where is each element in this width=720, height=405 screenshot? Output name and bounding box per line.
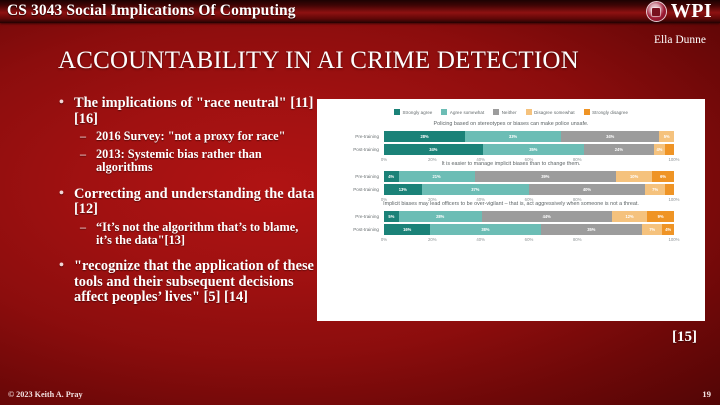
bar-segment-label: 39% (541, 174, 549, 179)
chart-row: Post-training13%37%40%7% (317, 184, 705, 195)
chart-panel: Strongly agreeAgree somewhatNeitherDisag… (317, 99, 705, 321)
legend-label: Strongly agree (402, 110, 432, 115)
subchart-title: Policing based on stereotypes or biases … (317, 121, 705, 128)
stacked-bar: 34%35%24%4% (384, 144, 674, 155)
bar-segment-label: 6% (660, 174, 666, 179)
chart-row: Pre-training4%21%39%10%6% (317, 171, 705, 182)
presenter-name: Ella Dunne (654, 34, 706, 46)
chart-row: Post-training16%38%35%7%4% (317, 224, 705, 235)
course-title: CS 3043 Social Implications Of Computing (7, 2, 296, 20)
bar-segment: 33% (465, 131, 561, 142)
legend-label: Strongly disagree (592, 110, 628, 115)
legend-swatch-icon (584, 109, 590, 115)
bar-segment (665, 184, 674, 195)
bar-segment-label: 24% (615, 147, 623, 152)
bar-segment-label: 40% (583, 187, 591, 192)
slide: CS 3043 Social Implications Of Computing… (0, 0, 720, 405)
bar-segment-label: 35% (587, 227, 595, 232)
legend-swatch-icon (394, 109, 400, 115)
chart-subpanels: Policing based on stereotypes or biases … (317, 121, 705, 237)
bar-segment-label: 28% (420, 134, 428, 139)
x-axis-tick-label: 20% (428, 237, 437, 242)
page-title: ACCOUNTABILITY IN AI CRIME DETECTION (58, 47, 579, 75)
bar-segment-label: 13% (399, 187, 407, 192)
x-axis-tick-label: 100% (668, 237, 679, 242)
bar-segment: 4% (662, 224, 674, 235)
legend-swatch-icon (526, 109, 532, 115)
subchart: Implicit biases may lead officers to be … (317, 201, 705, 237)
bar-segment-label: 28% (436, 214, 444, 219)
subchart-title: It is easier to manage implicit biases t… (317, 161, 705, 168)
legend-label: Agree somewhat (450, 110, 484, 115)
bar-segment: 7% (642, 224, 662, 235)
bar-segment: 5% (384, 211, 399, 222)
stacked-bar: 13%37%40%7% (384, 184, 674, 195)
chart-row-label: Post-training (317, 227, 384, 232)
subchart-rows: Pre-training4%21%39%10%6%Post-training13… (317, 171, 705, 195)
bar-segment: 38% (430, 224, 540, 235)
legend-item: Neither (493, 109, 516, 115)
bar-segment: 6% (652, 171, 674, 182)
bar-segment-label: 34% (606, 134, 614, 139)
chart-row: Pre-training5%28%44%12%9% (317, 211, 705, 222)
chart-row: Post-training34%35%24%4% (317, 144, 705, 155)
stacked-bar: 4%21%39%10%6% (384, 171, 674, 182)
image-citation: [15] (672, 329, 697, 346)
bar-segment: 35% (483, 144, 585, 155)
bar-segment-label: 10% (630, 174, 638, 179)
bar-segment: 40% (529, 184, 645, 195)
bar-segment: 16% (384, 224, 430, 235)
bar-segment-label: 7% (652, 187, 658, 192)
bar-segment-label: 12% (625, 214, 633, 219)
bar-segment-label: 37% (471, 187, 479, 192)
chart-row-label: Pre-training (317, 134, 384, 139)
bullet-level2: “It’s not the algorithm that’s to blame,… (58, 221, 316, 247)
stacked-bar: 16%38%35%7%4% (384, 224, 674, 235)
bar-segment-label: 35% (529, 147, 537, 152)
x-axis-tick-label: 40% (476, 237, 485, 242)
bullet-level1: The implications of "race neutral" [11] … (58, 96, 316, 127)
bar-segment: 9% (647, 211, 674, 222)
chart-row-label: Pre-training (317, 174, 384, 179)
bullet-level1: Correcting and understanding the data [1… (58, 187, 316, 218)
bar-segment-label: 4% (657, 147, 663, 152)
bar-segment: 12% (612, 211, 648, 222)
bar-segment: 34% (384, 144, 483, 155)
x-axis-tick-label: 0% (381, 157, 387, 162)
subchart: Policing based on stereotypes or biases … (317, 121, 705, 157)
x-axis-tick-label: 100% (668, 157, 679, 162)
chart-row-label: Post-training (317, 187, 384, 192)
x-axis-tick-label: 100% (668, 197, 679, 202)
x-axis-tick-label: 80% (573, 157, 582, 162)
stacked-bar: 5%28%44%12%9% (384, 211, 674, 222)
x-axis-tick-label: 80% (573, 237, 582, 242)
bar-segment: 34% (561, 131, 660, 142)
legend-item: Strongly disagree (584, 109, 628, 115)
subchart-rows: Pre-training5%28%44%12%9%Post-training16… (317, 211, 705, 235)
bar-segment: 4% (654, 144, 666, 155)
bar-segment (665, 144, 674, 155)
legend-label: Disagree somewhat (534, 110, 575, 115)
legend-item: Disagree somewhat (526, 109, 575, 115)
chart-row-label: Pre-training (317, 214, 384, 219)
subchart: It is easier to manage implicit biases t… (317, 161, 705, 197)
chart-legend: Strongly agreeAgree somewhatNeitherDisag… (317, 99, 705, 117)
bar-segment-label: 34% (429, 147, 437, 152)
x-axis-tick-label: 60% (525, 237, 534, 242)
bar-segment: 39% (475, 171, 616, 182)
bar-segment-label: 5% (388, 214, 394, 219)
bar-segment-label: 21% (432, 174, 440, 179)
bar-segment-label: 33% (509, 134, 517, 139)
bar-segment: 28% (399, 211, 482, 222)
wpi-logo: WPI (646, 1, 712, 22)
bar-segment-label: 16% (403, 227, 411, 232)
bar-segment: 44% (482, 211, 612, 222)
bullet-level2: 2013: Systemic bias rather than algorith… (58, 148, 316, 174)
footer-page-number: 19 (702, 389, 711, 399)
bar-segment: 24% (584, 144, 654, 155)
legend-item: Strongly agree (394, 109, 432, 115)
stacked-bar: 28%33%34%5% (384, 131, 674, 142)
bar-segment: 28% (384, 131, 465, 142)
bar-segment: 7% (645, 184, 665, 195)
wpi-wordmark: WPI (671, 2, 712, 21)
subchart-rows: Pre-training28%33%34%5%Post-training34%3… (317, 131, 705, 155)
bar-segment-label: 9% (658, 214, 664, 219)
x-axis-tick-label: 60% (525, 157, 534, 162)
bar-segment-label: 7% (649, 227, 655, 232)
legend-swatch-icon (441, 109, 447, 115)
bar-segment-label: 44% (543, 214, 551, 219)
legend-swatch-icon (493, 109, 499, 115)
bar-segment: 35% (541, 224, 643, 235)
bar-segment-label: 4% (665, 227, 671, 232)
x-axis-tick-label: 20% (428, 157, 437, 162)
legend-item: Agree somewhat (441, 109, 484, 115)
bar-segment: 13% (384, 184, 422, 195)
x-axis-tick-label: 0% (381, 197, 387, 202)
x-axis-tick-label: 40% (476, 157, 485, 162)
x-axis-tick-label: 80% (573, 197, 582, 202)
bar-segment: 5% (659, 131, 674, 142)
chart-row: Pre-training28%33%34%5% (317, 131, 705, 142)
bar-segment: 4% (384, 171, 399, 182)
subchart-title: Implicit biases may lead officers to be … (317, 201, 705, 208)
bar-segment-label: 5% (664, 134, 670, 139)
bullet-level1: "recognize that the application of these… (58, 259, 316, 306)
chart-row-label: Post-training (317, 147, 384, 152)
bar-segment: 21% (399, 171, 475, 182)
x-axis-tick-label: 60% (525, 197, 534, 202)
footer-copyright: © 2023 Keith A. Pray (8, 390, 83, 399)
bar-segment-label: 4% (388, 174, 394, 179)
x-axis-tick-label: 20% (428, 197, 437, 202)
x-axis-tick-label: 40% (476, 197, 485, 202)
legend-label: Neither (502, 110, 517, 115)
bar-segment: 37% (422, 184, 529, 195)
bullet-level2: 2016 Survey: "not a proxy for race" (58, 130, 316, 143)
bullet-list: The implications of "race neutral" [11] … (58, 96, 316, 309)
wpi-seal-icon (646, 1, 667, 22)
bar-segment: 10% (616, 171, 652, 182)
bar-segment-label: 38% (481, 227, 489, 232)
x-axis-tick-label: 0% (381, 237, 387, 242)
